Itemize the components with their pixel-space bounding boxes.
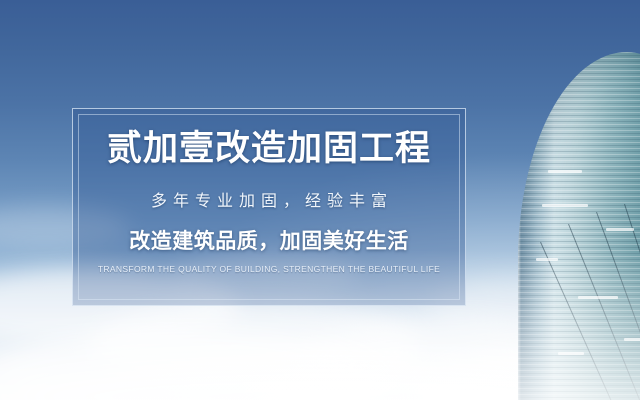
banner-subtitle: 多年专业加固，经验丰富	[145, 187, 393, 211]
window-highlight	[542, 204, 588, 207]
window-highlight	[606, 228, 634, 231]
banner-title: 贰加壹改造加固工程	[107, 131, 431, 169]
hero-banner: 贰加壹改造加固工程 多年专业加固，经验丰富 改造建筑品质，加固美好生活 TRAN…	[0, 0, 640, 400]
bottom-cloud-haze	[0, 250, 640, 400]
window-highlight	[548, 170, 582, 173]
